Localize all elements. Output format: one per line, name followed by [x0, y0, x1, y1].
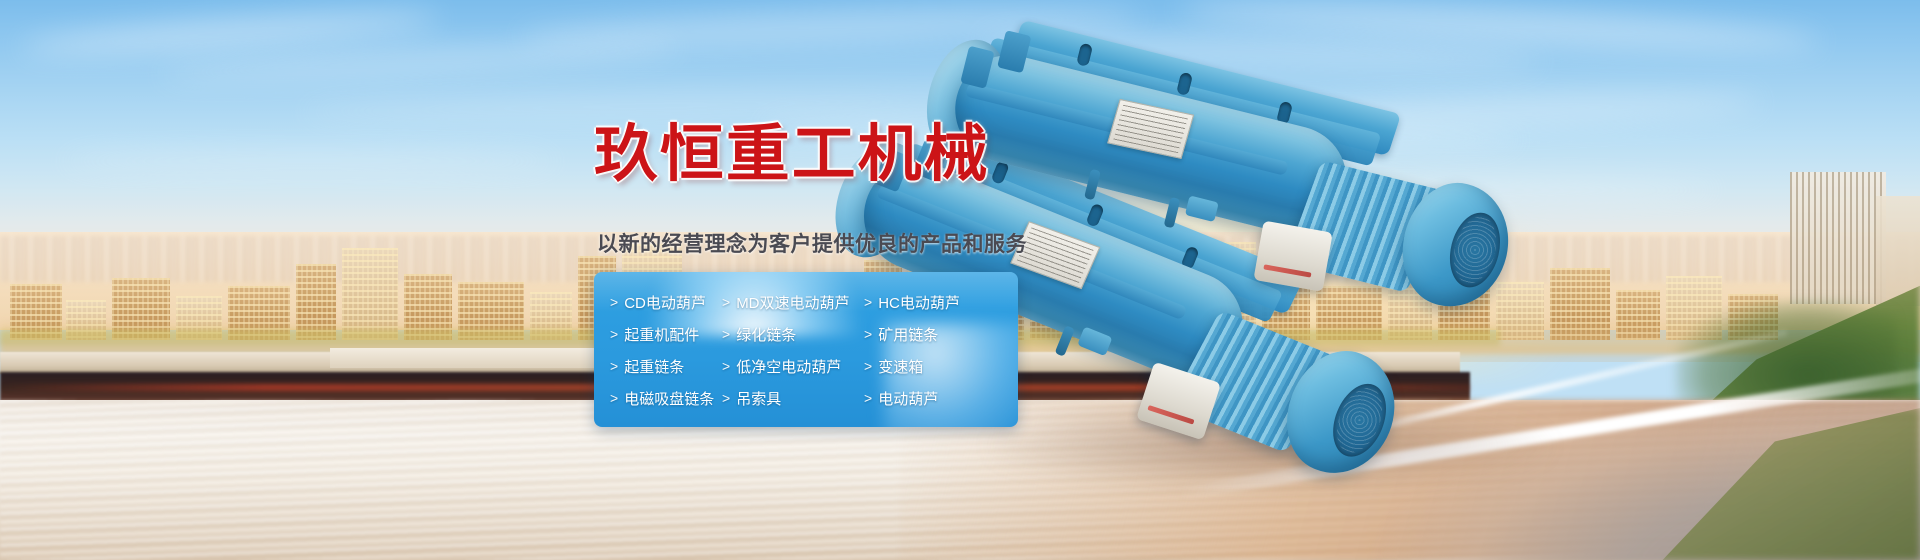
product-link-cd-hoist[interactable]: > CD电动葫芦: [610, 292, 722, 313]
cloud-wisp-icon: [20, 5, 441, 60]
chevron-right-icon: >: [610, 358, 618, 374]
product-link-label: 低净空电动葫芦: [736, 356, 841, 377]
cloud-wisp-icon: [60, 150, 560, 172]
product-link-lifting-slings[interactable]: > 吊索具: [722, 388, 864, 409]
product-link-label: 矿用链条: [878, 324, 938, 345]
product-links-grid: > CD电动葫芦 > MD双速电动葫芦 > HC电动葫芦 > 起重机配件 > 绿…: [594, 272, 1018, 427]
promo-banner: 玖恒重工机械 以新的经营理念为客户提供优良的产品和服务 > CD电动葫芦 > M…: [0, 0, 1920, 560]
product-link-label: 电磁吸盘链条: [624, 388, 714, 409]
product-link-label: 吊索具: [736, 388, 781, 409]
product-link-md-dual-speed-hoist[interactable]: > MD双速电动葫芦: [722, 292, 864, 313]
product-link-crane-parts[interactable]: > 起重机配件: [610, 324, 722, 345]
chevron-right-icon: >: [722, 294, 730, 310]
product-link-mining-chain[interactable]: > 矿用链条: [864, 324, 1018, 345]
product-link-label: 变速箱: [878, 356, 923, 377]
chevron-right-icon: >: [610, 390, 618, 406]
hoist-junction-box: [1253, 221, 1332, 292]
chevron-right-icon: >: [722, 326, 730, 342]
chevron-right-icon: >: [864, 326, 872, 342]
chevron-right-icon: >: [610, 294, 618, 310]
chevron-right-icon: >: [722, 390, 730, 406]
product-link-label: CD电动葫芦: [624, 292, 706, 313]
chevron-right-icon: >: [864, 358, 872, 374]
product-link-label: MD双速电动葫芦: [736, 292, 849, 313]
product-link-low-headroom-hoist[interactable]: > 低净空电动葫芦: [722, 356, 864, 377]
product-link-electric-hoist[interactable]: > 电动葫芦: [864, 388, 1018, 409]
product-link-label: 起重链条: [624, 356, 684, 377]
product-link-greening-chain[interactable]: > 绿化链条: [722, 324, 864, 345]
product-link-magnetic-chuck-chain[interactable]: > 电磁吸盘链条: [610, 388, 722, 409]
product-link-gearbox[interactable]: > 变速箱: [864, 356, 1018, 377]
product-link-label: 绿化链条: [736, 324, 796, 345]
chevron-right-icon: >: [864, 390, 872, 406]
chevron-right-icon: >: [610, 326, 618, 342]
product-link-lifting-chain[interactable]: > 起重链条: [610, 356, 722, 377]
product-link-label: HC电动葫芦: [878, 292, 960, 313]
product-link-label: 电动葫芦: [878, 388, 938, 409]
banner-subheadline: 以新的经营理念为客户提供优良的产品和服务: [597, 228, 1027, 258]
chevron-right-icon: >: [864, 294, 872, 310]
product-image-electric-hoists: [860, 40, 1920, 520]
product-link-label: 起重机配件: [624, 324, 699, 345]
chevron-right-icon: >: [722, 358, 730, 374]
product-link-hc-hoist[interactable]: > HC电动葫芦: [864, 292, 1018, 313]
product-links-panel: > CD电动葫芦 > MD双速电动葫芦 > HC电动葫芦 > 起重机配件 > 绿…: [594, 272, 1018, 427]
banner-headline: 玖恒重工机械: [594, 124, 990, 186]
